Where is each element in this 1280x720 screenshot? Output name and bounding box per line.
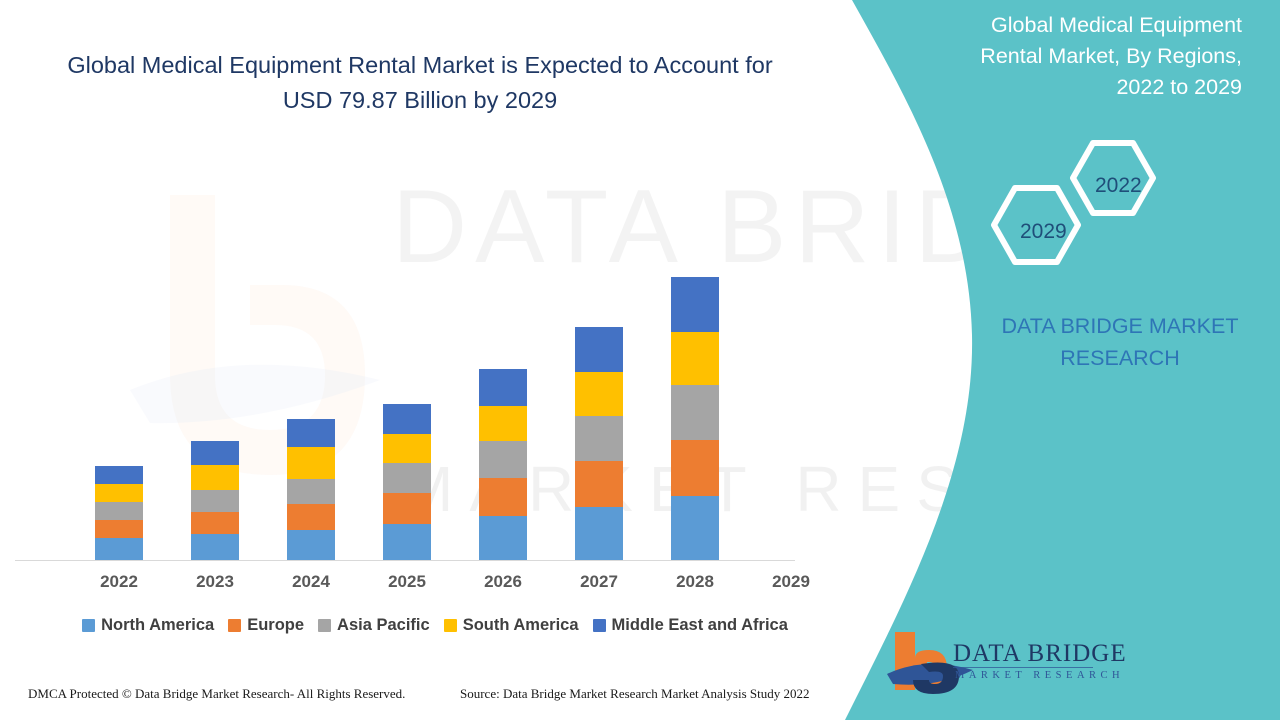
segment-2026-middle-east-and-africa	[479, 369, 527, 406]
legend-swatch-icon	[228, 619, 241, 632]
x-axis-labels: 20222023202420252026202720282029	[40, 572, 830, 602]
segment-2023-middle-east-and-africa	[191, 441, 239, 465]
segment-2028-south-america	[671, 332, 719, 385]
legend-item-europe[interactable]: Europe	[228, 616, 304, 635]
segment-2025-south-america	[383, 434, 431, 463]
legend-swatch-icon	[82, 619, 95, 632]
x-tick-2022: 2022	[84, 572, 154, 592]
segment-2026-north-america	[479, 516, 527, 560]
bar-2026	[479, 369, 527, 560]
x-tick-2024: 2024	[276, 572, 346, 592]
logo-wordmark: DATA BRIDGE	[953, 640, 1127, 668]
page-title: Global Medical Equipment Rental Market i…	[60, 48, 780, 118]
bar-2025	[383, 404, 431, 560]
x-tick-2025: 2025	[372, 572, 442, 592]
infographic-stage: DATA BRIDGE MARKET RESEARCH Global Medic…	[0, 0, 1280, 720]
segment-2028-middle-east-and-africa	[671, 277, 719, 332]
hex-2022-label: 2022	[1095, 174, 1142, 198]
hexagon-badges	[985, 140, 1175, 275]
segment-2027-europe	[575, 461, 623, 507]
segment-2023-north-america	[191, 534, 239, 560]
segment-2024-europe	[287, 504, 335, 530]
segment-2022-middle-east-and-africa	[95, 466, 143, 484]
logo-tagline: MARKET RESEARCH	[955, 670, 1124, 681]
stacked-bar-chart	[40, 150, 830, 565]
segment-2022-north-america	[95, 538, 143, 560]
x-tick-2026: 2026	[468, 572, 538, 592]
legend-label: Asia Pacific	[337, 616, 430, 635]
x-tick-2023: 2023	[180, 572, 250, 592]
segment-2027-asia-pacific	[575, 416, 623, 461]
legend-label: Middle East and Africa	[612, 616, 788, 635]
panel-title: Global Medical Equipment Rental Market, …	[952, 10, 1242, 103]
chart-legend: North AmericaEuropeAsia PacificSouth Ame…	[40, 616, 830, 635]
legend-item-south-america[interactable]: South America	[444, 616, 579, 635]
segment-2023-south-america	[191, 465, 239, 490]
segment-2023-europe	[191, 512, 239, 534]
segment-2027-north-america	[575, 507, 623, 560]
segment-2024-middle-east-and-africa	[287, 419, 335, 447]
x-tick-2027: 2027	[564, 572, 634, 592]
bar-2027	[575, 327, 623, 560]
legend-swatch-icon	[444, 619, 457, 632]
copyright-notice: DMCA Protected © Data Bridge Market Rese…	[28, 686, 405, 702]
x-tick-2029: 2029	[756, 572, 826, 592]
bar-2023	[191, 441, 239, 560]
segment-2025-north-america	[383, 524, 431, 560]
legend-item-asia-pacific[interactable]: Asia Pacific	[318, 616, 430, 635]
segment-2022-asia-pacific	[95, 502, 143, 520]
segment-2022-south-america	[95, 484, 143, 502]
segment-2028-asia-pacific	[671, 385, 719, 440]
source-note: Source: Data Bridge Market Research Mark…	[460, 686, 809, 702]
legend-item-middle-east-and-africa[interactable]: Middle East and Africa	[593, 616, 788, 635]
segment-2024-asia-pacific	[287, 479, 335, 504]
logo-divider	[953, 667, 1093, 668]
chart-panel: DATA BRIDGE MARKET RESEARCH Global Medic…	[0, 0, 860, 720]
hex-2029-label: 2029	[1020, 220, 1067, 244]
bar-2022	[95, 466, 143, 560]
segment-2027-south-america	[575, 372, 623, 416]
segment-2025-middle-east-and-africa	[383, 404, 431, 434]
legend-label: South America	[463, 616, 579, 635]
segment-2026-asia-pacific	[479, 441, 527, 478]
segment-2024-north-america	[287, 530, 335, 560]
segment-2025-asia-pacific	[383, 463, 431, 493]
legend-label: Europe	[247, 616, 304, 635]
segment-2027-middle-east-and-africa	[575, 327, 623, 372]
legend-swatch-icon	[318, 619, 331, 632]
legend-label: North America	[101, 616, 214, 635]
bar-2028	[671, 277, 719, 560]
bar-2024	[287, 419, 335, 560]
legend-swatch-icon	[593, 619, 606, 632]
segment-2026-europe	[479, 478, 527, 516]
segment-2028-europe	[671, 440, 719, 496]
segment-2022-europe	[95, 520, 143, 538]
x-axis-line	[15, 560, 795, 561]
segment-2024-south-america	[287, 447, 335, 479]
x-tick-2028: 2028	[660, 572, 730, 592]
legend-item-north-america[interactable]: North America	[82, 616, 214, 635]
brand-name: DATA BRIDGE MARKET RESEARCH	[975, 310, 1265, 374]
segment-2023-asia-pacific	[191, 490, 239, 512]
chart-plot-area	[55, 150, 820, 560]
segment-2028-north-america	[671, 496, 719, 560]
segment-2025-europe	[383, 493, 431, 524]
segment-2026-south-america	[479, 406, 527, 441]
